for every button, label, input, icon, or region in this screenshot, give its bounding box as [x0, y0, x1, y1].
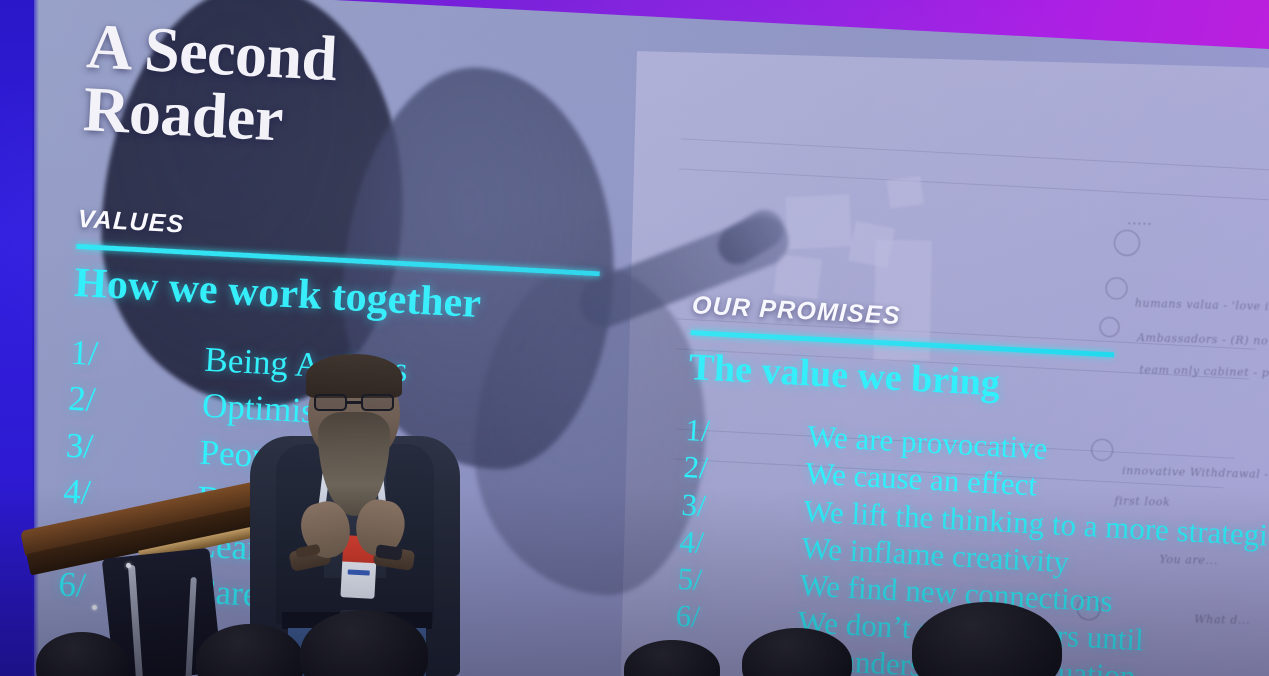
list-item-number: 3/ [681, 486, 805, 530]
slide-text-layer: A Second Roader VALUES How we work toget… [0, 0, 1269, 676]
list-item-number: 3/ [65, 422, 201, 475]
promises-subhead: The value we bring [688, 347, 1269, 421]
list-item-number: 4/ [679, 523, 803, 567]
list-item-number: 6/ [57, 562, 193, 615]
list-item-number: 5/ [60, 515, 196, 568]
slide-title: A Second Roader [82, 15, 339, 153]
values-list: 1/ Being Authors 2/ Optimism 3/ People a… [57, 329, 651, 638]
promises-list: 1/ We are provocative 2/ We cause an eff… [673, 411, 1269, 676]
projection-screen: ..... humans valua - 'love is not' Ambas… [0, 0, 1269, 676]
stage-photo-scene: ..... humans valua - 'love is not' Ambas… [0, 0, 1269, 676]
slide-column-values: VALUES How we work together 1/ Being Aut… [57, 205, 657, 639]
list-item-number: 5/ [677, 560, 801, 604]
list-item-number: 2/ [683, 448, 807, 492]
slide-column-promises: OUR PROMISES The value we bring 1/ We ar… [673, 291, 1269, 676]
stage-left-blue-strip [0, 0, 34, 676]
list-item-number [673, 663, 795, 669]
list-item-number: 1/ [685, 411, 809, 455]
list-item-text: Learning [194, 522, 323, 575]
promises-eyebrow: OUR PROMISES [691, 291, 1269, 353]
list-item-number: 2/ [67, 376, 203, 429]
list-item-text: Optimism [201, 383, 343, 437]
list-item-number: 6/ [675, 597, 799, 641]
list-item-number: 4/ [62, 469, 198, 522]
list-item-number: 1/ [70, 329, 206, 382]
values-eyebrow: VALUES [77, 205, 658, 264]
